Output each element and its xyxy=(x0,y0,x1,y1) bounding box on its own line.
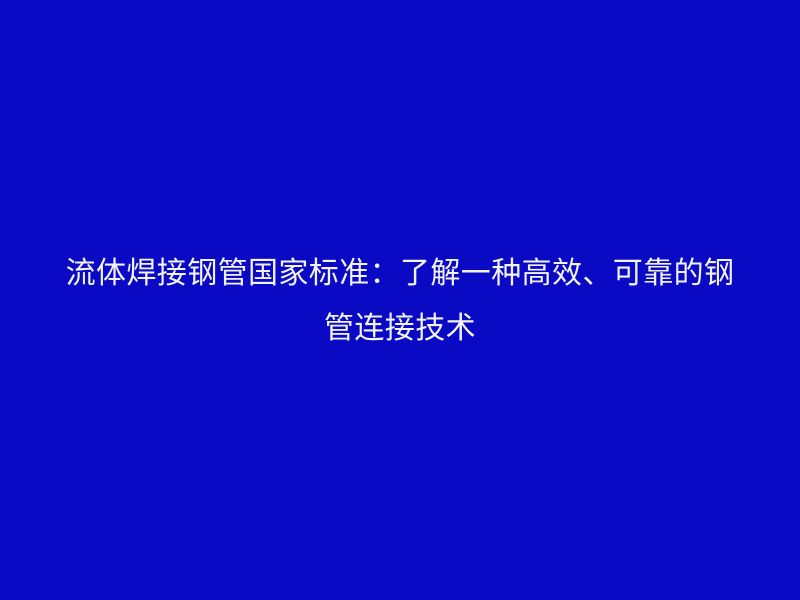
title-block: 流体焊接钢管国家标准：了解一种高效、可靠的钢管连接技术 xyxy=(55,246,745,356)
page-title: 流体焊接钢管国家标准：了解一种高效、可靠的钢管连接技术 xyxy=(55,246,745,356)
title-slide: 流体焊接钢管国家标准：了解一种高效、可靠的钢管连接技术 xyxy=(0,0,800,600)
